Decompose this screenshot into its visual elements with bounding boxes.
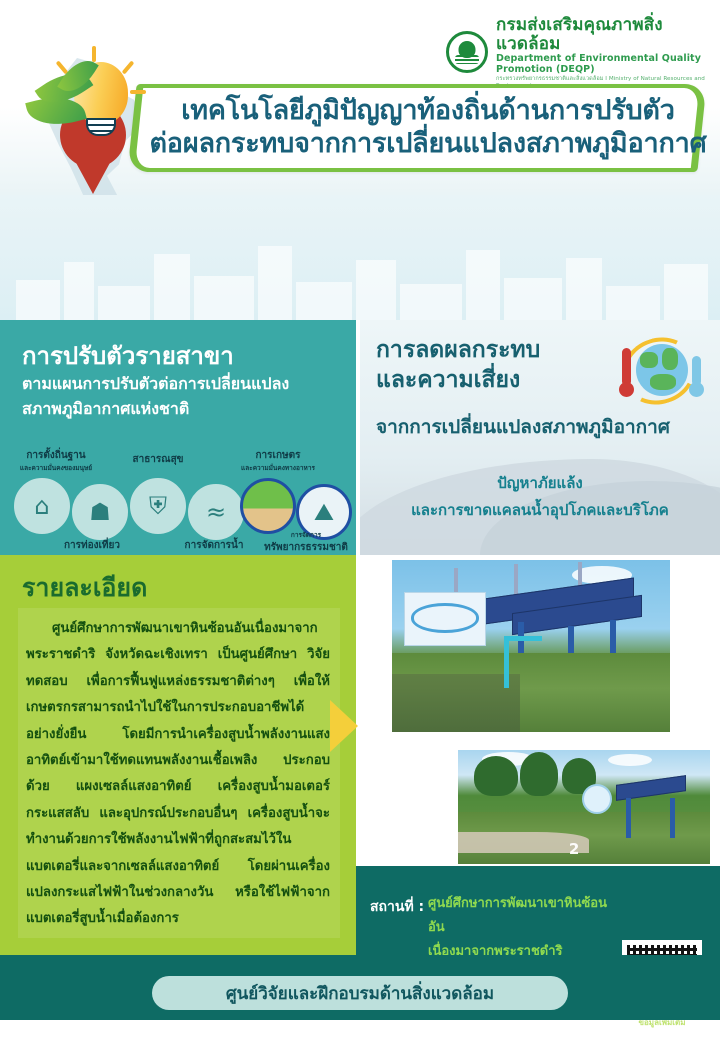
mitigation-sub-line1: ปัญหาภัยแล้ง	[360, 470, 720, 497]
sector-label-natural-resources: การจัดการ ทรัพยากรธรรมชาติ	[258, 530, 354, 555]
sector-label-public-health: สาธารณสุข	[116, 452, 200, 467]
sector-icon-tourism[interactable]: ☗	[72, 484, 128, 540]
footer-text: ศูนย์วิจัยและฝึกอบรมด้านสิ่งแวดล้อม	[226, 980, 494, 1007]
sector-label-settlement: การตั้งถิ่นฐาน และความมั่นคงของมนุษย์	[8, 448, 104, 473]
sector-icon-water-management[interactable]: ≈	[188, 484, 244, 540]
thermometer-cold-bulb	[689, 382, 704, 397]
sector-icon-agriculture[interactable]	[240, 478, 296, 534]
technology-name-band: ชื่อเทคโนโลยี : “เครื่องสูบน้ำ” พลังงานแ…	[0, 195, 720, 320]
lightbulb-leaf-icon	[24, 46, 154, 195]
mitigation-heading-line3: จากการเปลี่ยนแปลงสภาพภูมิอากาศ	[376, 412, 670, 442]
deqp-tree-logo-icon	[446, 31, 488, 73]
poster-header: กรมส่งเสริมคุณภาพสิ่งแวดล้อม Department …	[0, 0, 720, 195]
photo-number-label: 2	[569, 840, 579, 858]
mitigation-subtext: ปัญหาภัยแล้ง และการขาดแคลนน้ำอุปโภคและบร…	[360, 470, 720, 524]
adaptation-heading: การปรับตัวรายสาขา	[22, 336, 234, 375]
sector-label-tourism: การท่องเที่ยว	[44, 538, 140, 553]
mitigation-heading-line2: และความเสี่ยง	[376, 366, 540, 396]
mitigation-heading: การลดผลกระทบ และความเสี่ยง	[376, 336, 540, 396]
arrow-right-icon	[330, 700, 358, 752]
sector-label-agriculture: การเกษตร และความมั่นคงทางอาหาร	[228, 448, 328, 473]
mitigation-sub-line2: และการขาดแคลนน้ำอุปโภคและบริโภค	[360, 497, 720, 524]
globe-thermometer-icon	[610, 330, 706, 412]
solar-pump-photo-1	[392, 560, 670, 732]
page-title: เทคโนโลยีภูมิปัญญาท้องถิ่นด้านการปรับตัว…	[150, 88, 706, 168]
solar-pump-photo-2: 2	[456, 748, 712, 866]
earth-icon	[636, 344, 688, 396]
poster-root: กรมส่งเสริมคุณภาพสิ่งแวดล้อม Department …	[0, 0, 720, 1040]
bulb-base	[86, 118, 116, 136]
thermometer-hot-bulb	[619, 382, 634, 397]
thermometer-hot-icon	[622, 348, 631, 386]
city-skyline-graphic	[0, 228, 720, 320]
org-name-thai: กรมส่งเสริมคุณภาพสิ่งแวดล้อม	[496, 16, 720, 54]
sector-icon-settlement[interactable]: ⌂	[14, 478, 70, 534]
sector-icon-public-health[interactable]: ⛨	[130, 478, 186, 534]
sector-icons-row: การตั้งถิ่นฐาน และความมั่นคงของมนุษย์ สา…	[0, 446, 356, 554]
org-name-english: Department of Environmental Quality Prom…	[496, 54, 720, 75]
footer-pill: ศูนย์วิจัยและฝึกอบรมด้านสิ่งแวดล้อม	[152, 976, 568, 1010]
page-title-line1: เทคโนโลยีภูมิปัญญาท้องถิ่นด้านการปรับตัว	[181, 95, 674, 128]
location-label: สถานที่ :	[370, 896, 424, 918]
sector-label-water-management: การจัดการน้ำ	[168, 538, 260, 553]
detail-body-text: ศูนย์ศึกษาการพัฒนาเขาหินซ้อนอันเนื่องมาจ…	[18, 608, 340, 938]
adaptation-subheading: ตามแผนการปรับตัวต่อการเปลี่ยนแปลง สภาพภู…	[22, 372, 342, 422]
deqp-logo: กรมส่งเสริมคุณภาพสิ่งแวดล้อม Department …	[446, 16, 720, 89]
mitigation-heading-line1: การลดผลกระทบ	[376, 336, 540, 366]
page-title-line2: ต่อผลกระทบจากการเปลี่ยนแปลงสภาพภูมิอากาศ	[149, 128, 706, 161]
detail-title: รายละเอียด	[22, 568, 147, 608]
